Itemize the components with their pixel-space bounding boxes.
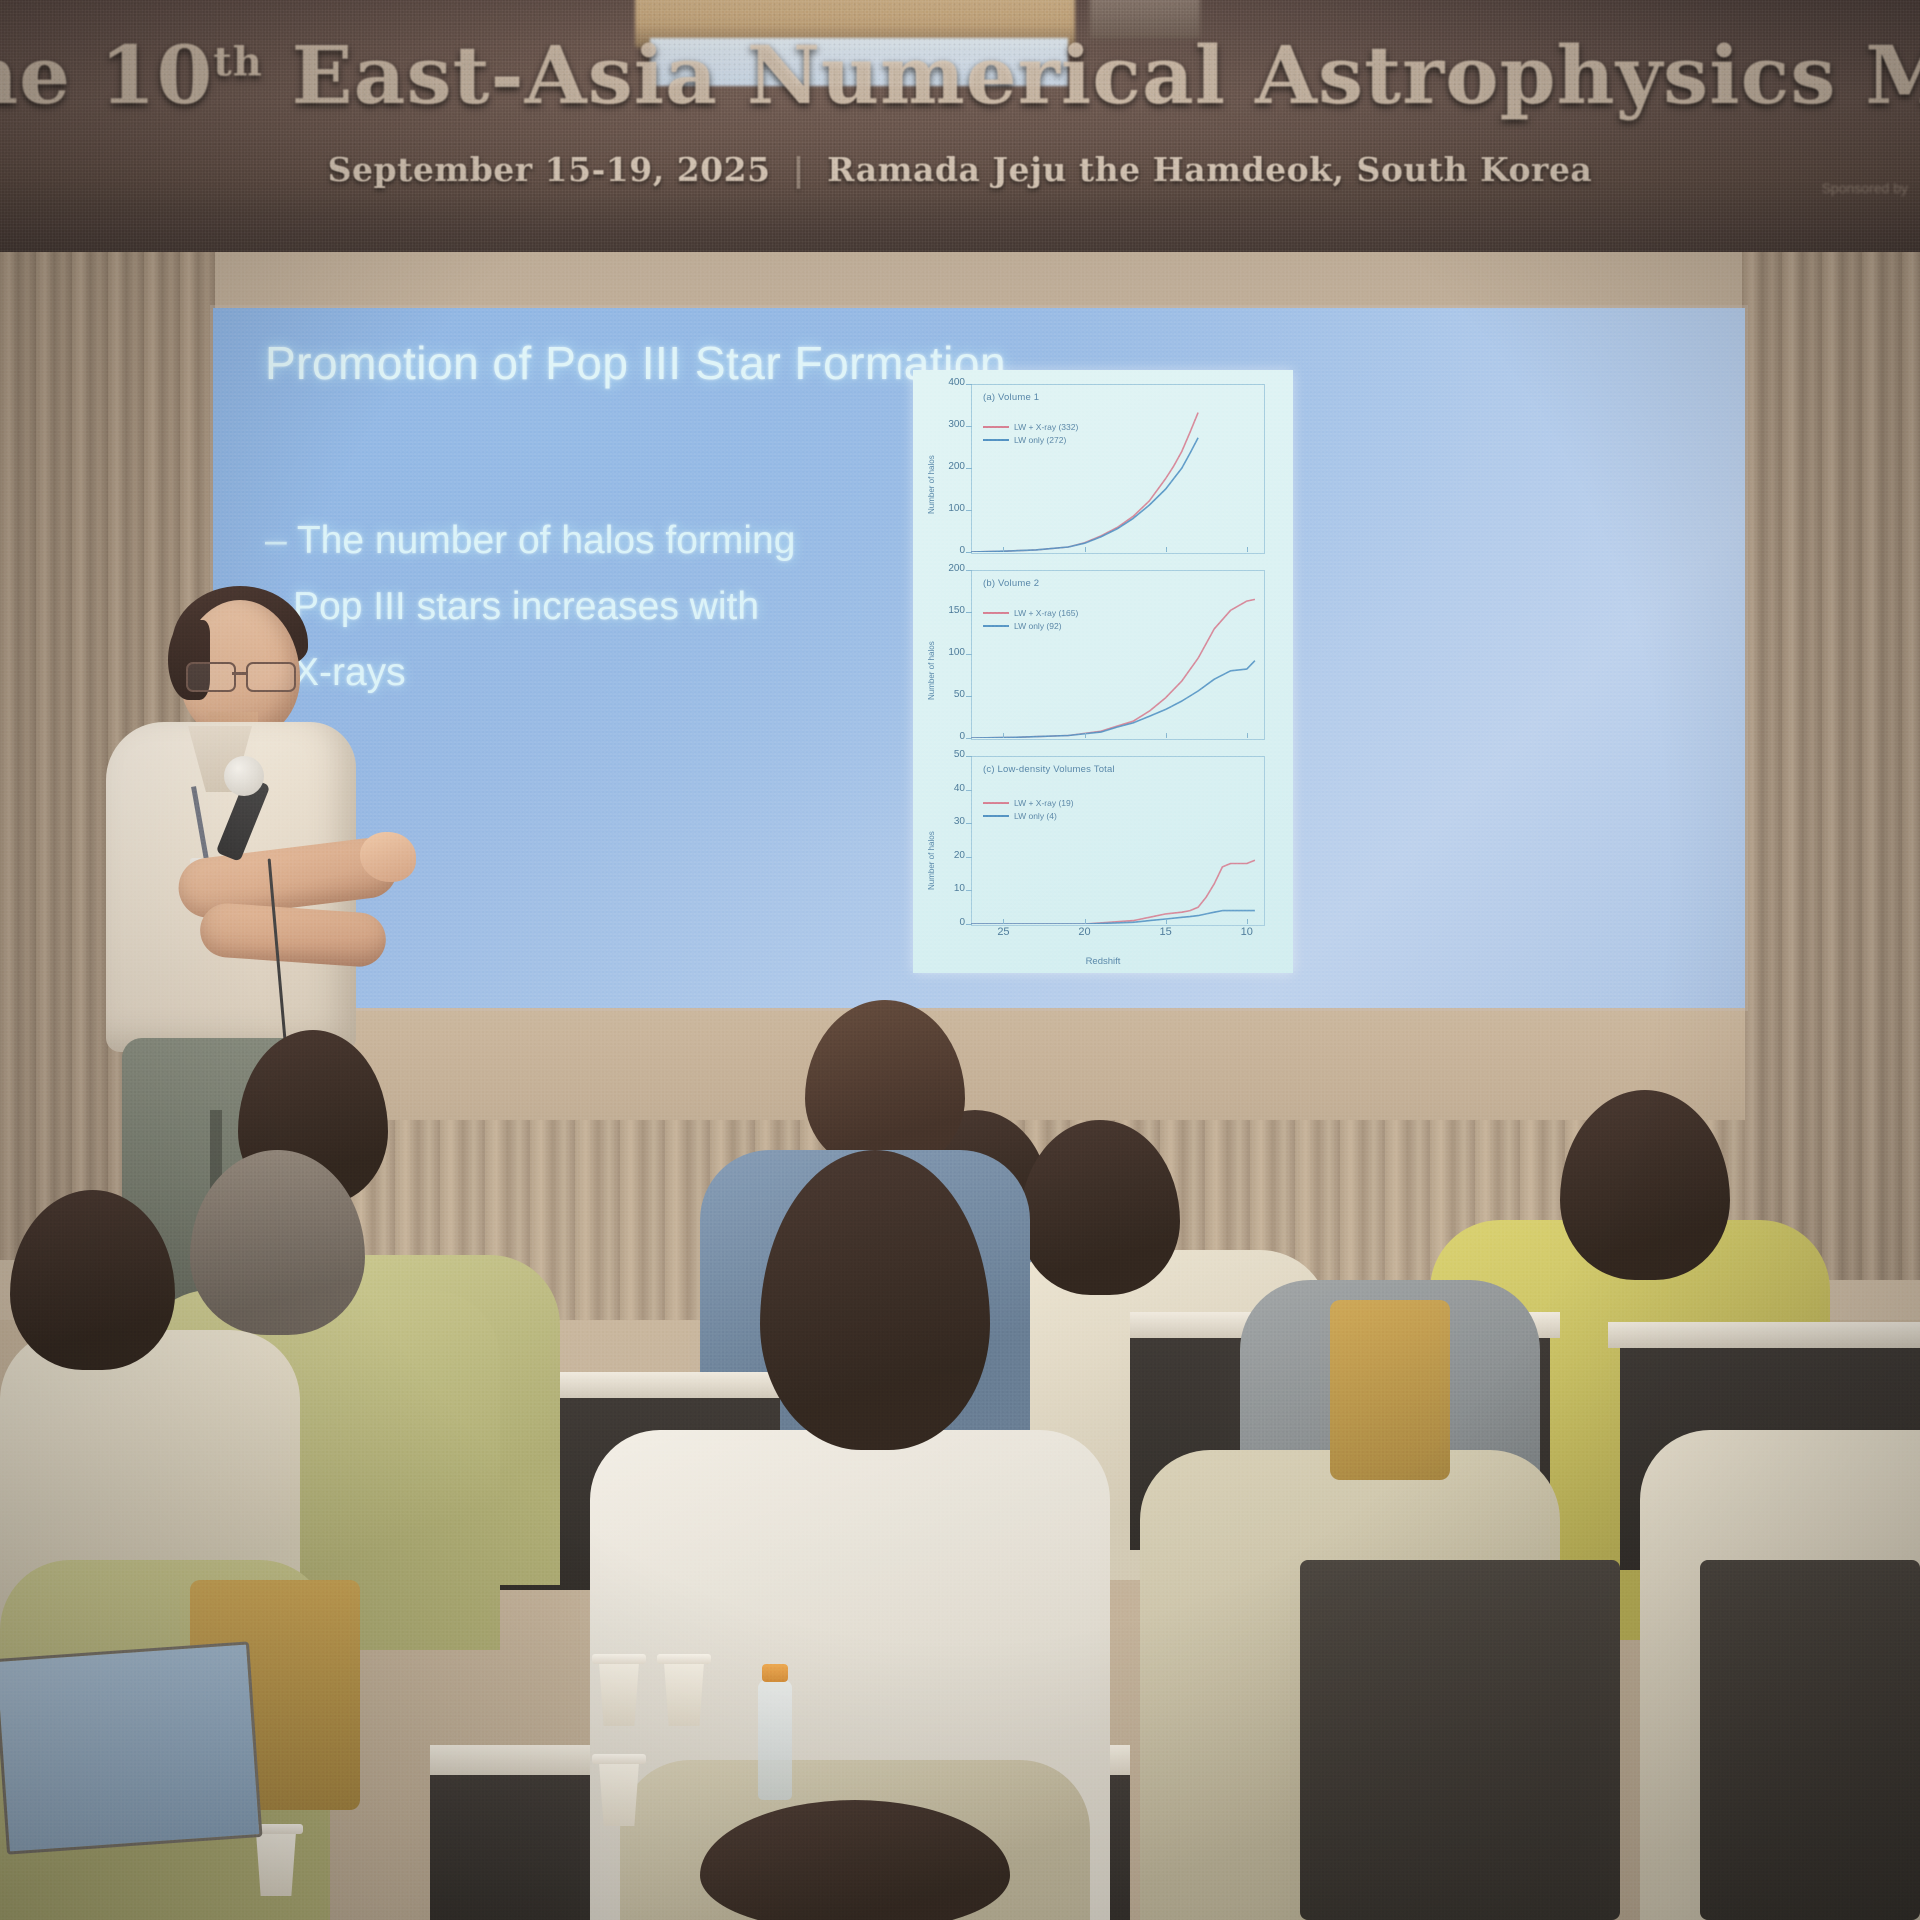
y-tick-mark [966, 756, 972, 757]
series-line [971, 599, 1255, 738]
x-tick-mark [1003, 919, 1004, 924]
glasses-lens-right [246, 662, 296, 692]
y-tick-mark [966, 384, 972, 385]
y-tick-label: 200 [919, 461, 965, 472]
microphone-icon [224, 756, 264, 796]
x-tick-mark [1166, 733, 1167, 738]
y-tick-label: 10 [919, 883, 965, 894]
laptop-screen [0, 1641, 263, 1854]
chair-back [1330, 1300, 1450, 1480]
chart-panel-b: (b) Volume 2 Number of halos LW + X-ray … [913, 570, 1293, 750]
y-tick-label: 50 [919, 749, 965, 760]
x-tick-mark [1085, 919, 1086, 924]
bullet-dash: – [265, 519, 287, 562]
banner-title-rest: East-Asia Numerical Astrophysics Meet [263, 28, 1920, 122]
y-tick-label: 0 [919, 731, 965, 742]
chart-plot-area-2 [971, 756, 1263, 924]
water-bottle [758, 1680, 792, 1800]
x-tick-mark [1085, 547, 1086, 552]
series-line [971, 413, 1198, 552]
banner-title: he 10th East-Asia Numerical Astrophysics… [0, 28, 1920, 122]
y-tick-label: 200 [919, 563, 965, 574]
figure-xlabel: Redshift [913, 956, 1293, 967]
slide-bullet-line-1: – The number of halos forming [265, 508, 905, 574]
audience-table-top [1608, 1322, 1920, 1348]
x-tick-mark [1003, 547, 1004, 552]
y-tick-mark [966, 738, 972, 739]
banner-venue: Ramada Jeju the Hamdeok, South Korea [827, 150, 1592, 189]
banner-separator: | [771, 150, 828, 189]
x-tick-label: 25 [983, 926, 1023, 938]
coffee-cup-lid [592, 1654, 646, 1664]
conference-photo: he 10th East-Asia Numerical Astrophysics… [0, 0, 1920, 1920]
y-tick-mark [966, 426, 972, 427]
x-tick-label: 10 [1227, 926, 1267, 938]
y-tick-label: 30 [919, 816, 965, 827]
y-tick-label: 300 [919, 419, 965, 430]
water-bottle-cap [762, 1664, 788, 1682]
x-tick-mark [1247, 547, 1248, 552]
coffee-cup-lid [657, 1654, 711, 1664]
bullet-text-1: The number of halos forming [297, 519, 796, 562]
y-tick-label: 0 [919, 545, 965, 556]
series-line [971, 860, 1255, 924]
chart-panel-a: (a) Volume 1 Number of halos LW + X-ray … [913, 384, 1293, 564]
series-line [971, 438, 1198, 552]
glasses-icon [186, 662, 298, 688]
y-tick-label: 150 [919, 605, 965, 616]
x-tick-mark [1247, 919, 1248, 924]
glasses-lens-left [186, 662, 236, 692]
y-tick-mark [966, 823, 972, 824]
y-tick-mark [966, 790, 972, 791]
y-tick-label: 40 [919, 783, 965, 794]
stage-curtain-right [1742, 250, 1920, 1280]
x-tick-mark [1166, 919, 1167, 924]
chart-panel-c: (c) Low-density Volumes Total Number of … [913, 756, 1293, 936]
y-tick-mark [966, 654, 972, 655]
conference-banner: he 10th East-Asia Numerical Astrophysics… [0, 0, 1920, 252]
y-tick-label: 100 [919, 647, 965, 658]
x-tick-mark [1247, 733, 1248, 738]
y-tick-label: 50 [919, 689, 965, 700]
glasses-bridge [232, 672, 246, 675]
x-tick-mark [1003, 733, 1004, 738]
y-tick-label: 0 [919, 917, 965, 928]
y-tick-mark [966, 570, 972, 571]
y-tick-label: 400 [919, 377, 965, 388]
y-tick-mark [966, 890, 972, 891]
chair-back-dark [1700, 1560, 1920, 1920]
figure-card: (a) Volume 1 Number of halos LW + X-ray … [913, 370, 1293, 973]
y-tick-mark [966, 468, 972, 469]
banner-dates: September 15-19, 2025 [328, 150, 771, 189]
presenter-hand [360, 832, 416, 882]
y-tick-mark [966, 510, 972, 511]
y-tick-mark [966, 924, 972, 925]
coffee-cup-lid [592, 1754, 646, 1764]
organizer-logo [8, 152, 128, 204]
chart-plot-area-0 [971, 384, 1263, 552]
x-tick-label: 15 [1146, 926, 1186, 938]
x-tick-label: 20 [1065, 926, 1105, 938]
y-tick-mark [966, 696, 972, 697]
projection-screen: Promotion of Pop III Star Formation – Th… [213, 308, 1745, 1008]
x-tick-mark [1166, 547, 1167, 552]
y-tick-mark [966, 552, 972, 553]
banner-title-ordinal: th [213, 38, 263, 85]
x-tick-mark [1085, 733, 1086, 738]
y-tick-mark [966, 857, 972, 858]
chair-back-dark [1300, 1560, 1620, 1920]
y-tick-mark [966, 612, 972, 613]
chart-plot-area-1 [971, 570, 1263, 738]
sponsor-note: Sponsored by [1758, 180, 1908, 196]
banner-subtitle: September 15-19, 2025|Ramada Jeju the Ha… [0, 150, 1920, 189]
y-tick-label: 20 [919, 850, 965, 861]
y-tick-label: 100 [919, 503, 965, 514]
series-line [971, 661, 1255, 738]
slide-title: Promotion of Pop III Star Formation [265, 336, 1006, 390]
banner-title-prefix: he 10 [0, 28, 213, 122]
